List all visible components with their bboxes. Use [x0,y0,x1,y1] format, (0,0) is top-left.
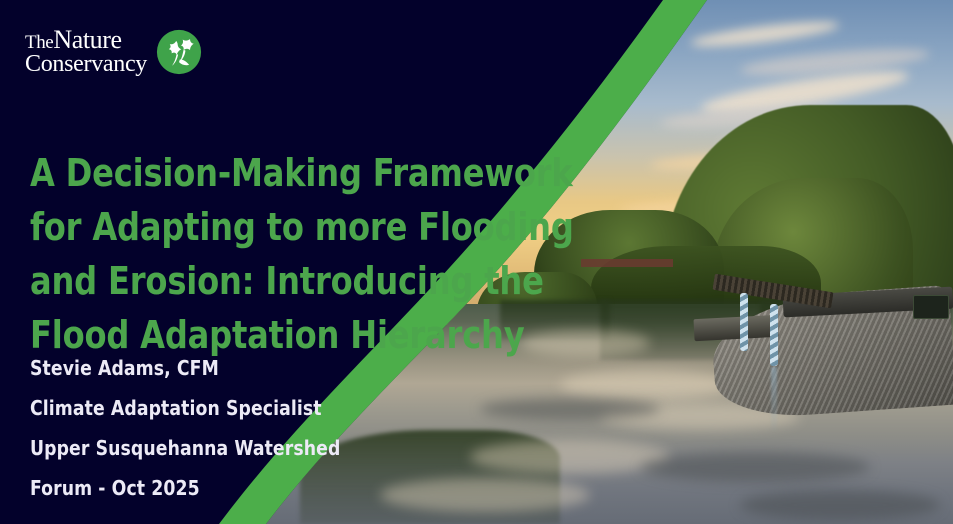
title-slide: TheNature Conservancy A Decision-Making … [0,0,953,524]
slide-title: A Decision-Making Framework for Adapting… [30,147,528,363]
event-date: Forum - Oct 2025 [30,468,433,508]
presenter-byline: Stevie Adams, CFM Climate Adaptation Spe… [30,348,433,508]
tnc-logo: TheNature Conservancy [25,28,202,76]
slide-title-line: for Adapting to more Flooding [30,201,528,255]
tnc-wordmark-line2: Conservancy [25,53,147,76]
tnc-wordmark: TheNature Conservancy [25,28,147,76]
presenter-role: Climate Adaptation Specialist [30,388,433,428]
oak-leaf-globe-icon [156,29,202,75]
presenter-name: Stevie Adams, CFM [30,348,433,388]
tnc-wordmark-line1: TheNature [25,28,147,53]
slide-content: TheNature Conservancy A Decision-Making … [0,0,953,524]
tnc-wordmark-the: The [25,32,53,53]
slide-title-line: A Decision-Making Framework [30,147,528,201]
tnc-wordmark-nature: Nature [53,25,121,54]
event-name: Upper Susquehanna Watershed [30,428,433,468]
slide-title-line: and Erosion: Introducing the [30,255,528,309]
